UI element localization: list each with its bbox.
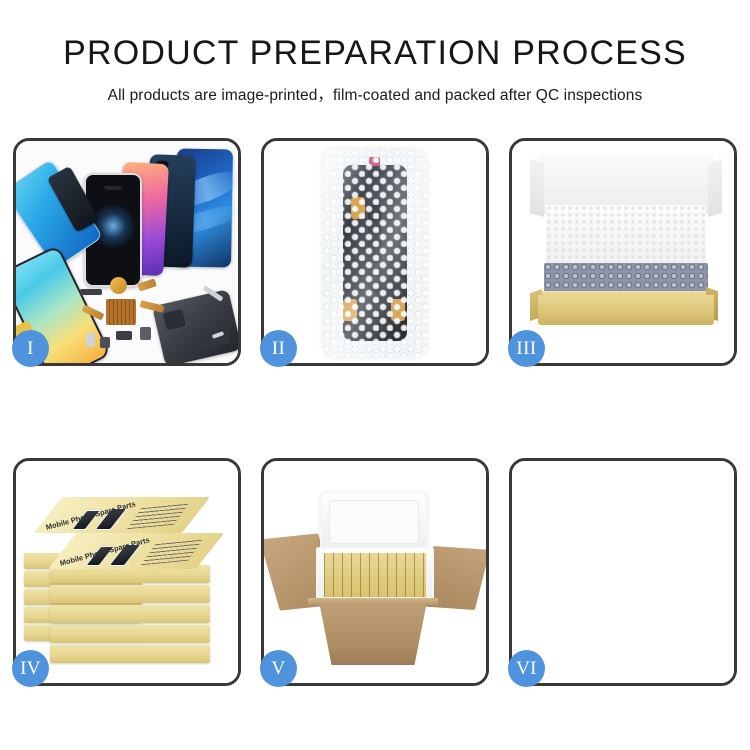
retail-box-r5	[50, 645, 210, 663]
step-badge-5: V	[260, 650, 297, 687]
process-step-card-2[interactable]: II	[261, 138, 489, 366]
step-badge-4: IV	[12, 650, 49, 687]
part-camera-module	[116, 331, 132, 340]
step-badge-2: II	[260, 330, 297, 367]
step-image-phone-screens-and-spare-parts	[16, 141, 238, 363]
part-battery-connector	[140, 327, 151, 340]
foam-texture	[546, 205, 706, 267]
step-image-bubble-wrapped-part	[264, 141, 486, 363]
page-subtitle: All products are image-printed，film-coat…	[0, 72, 750, 105]
retail-box-r3	[50, 605, 210, 623]
foam-lid	[320, 491, 428, 553]
process-step-card-1[interactable]: I	[13, 138, 241, 366]
plastic-sheen	[323, 149, 427, 357]
box-front-panel	[538, 295, 714, 325]
process-step-card-4[interactable]: Mobile Phone Spare Parts Mobile Phone Sp…	[13, 458, 241, 686]
step-badge-3: III	[508, 330, 545, 367]
step-badge-6: VI	[508, 650, 545, 687]
process-step-card-3[interactable]: III	[509, 138, 737, 366]
yellow-boxes-inside	[324, 553, 426, 597]
process-step-card-6[interactable]: VI	[509, 458, 737, 686]
step-image-stacked-retail-boxes: Mobile Phone Spare Parts Mobile Phone Sp…	[16, 461, 238, 683]
step-image-open-box-with-foam-and-bubble-wrap	[512, 141, 734, 363]
part-taptic-coil	[110, 277, 127, 294]
part-logic-board	[106, 299, 136, 325]
step-badge-1: I	[12, 330, 49, 367]
carton-body	[312, 603, 434, 665]
part-speaker-mesh	[80, 289, 102, 295]
page-title: PRODUCT PREPARATION PROCESS	[0, 0, 750, 72]
process-step-card-5[interactable]: V	[261, 458, 489, 686]
part-sim-tray	[86, 333, 95, 347]
white-foam-sheet	[546, 205, 706, 267]
bubble-wrap-bag	[323, 149, 427, 357]
step-image-sealed-shipping-carton	[512, 461, 734, 683]
part-vibrator	[100, 337, 110, 348]
process-step-grid: I II	[13, 138, 737, 686]
retail-box-r2	[50, 585, 210, 603]
page-header: PRODUCT PREPARATION PROCESS All products…	[0, 0, 750, 105]
retail-box-r4	[50, 625, 210, 643]
step-image-carton-with-foam-liner	[264, 461, 486, 683]
